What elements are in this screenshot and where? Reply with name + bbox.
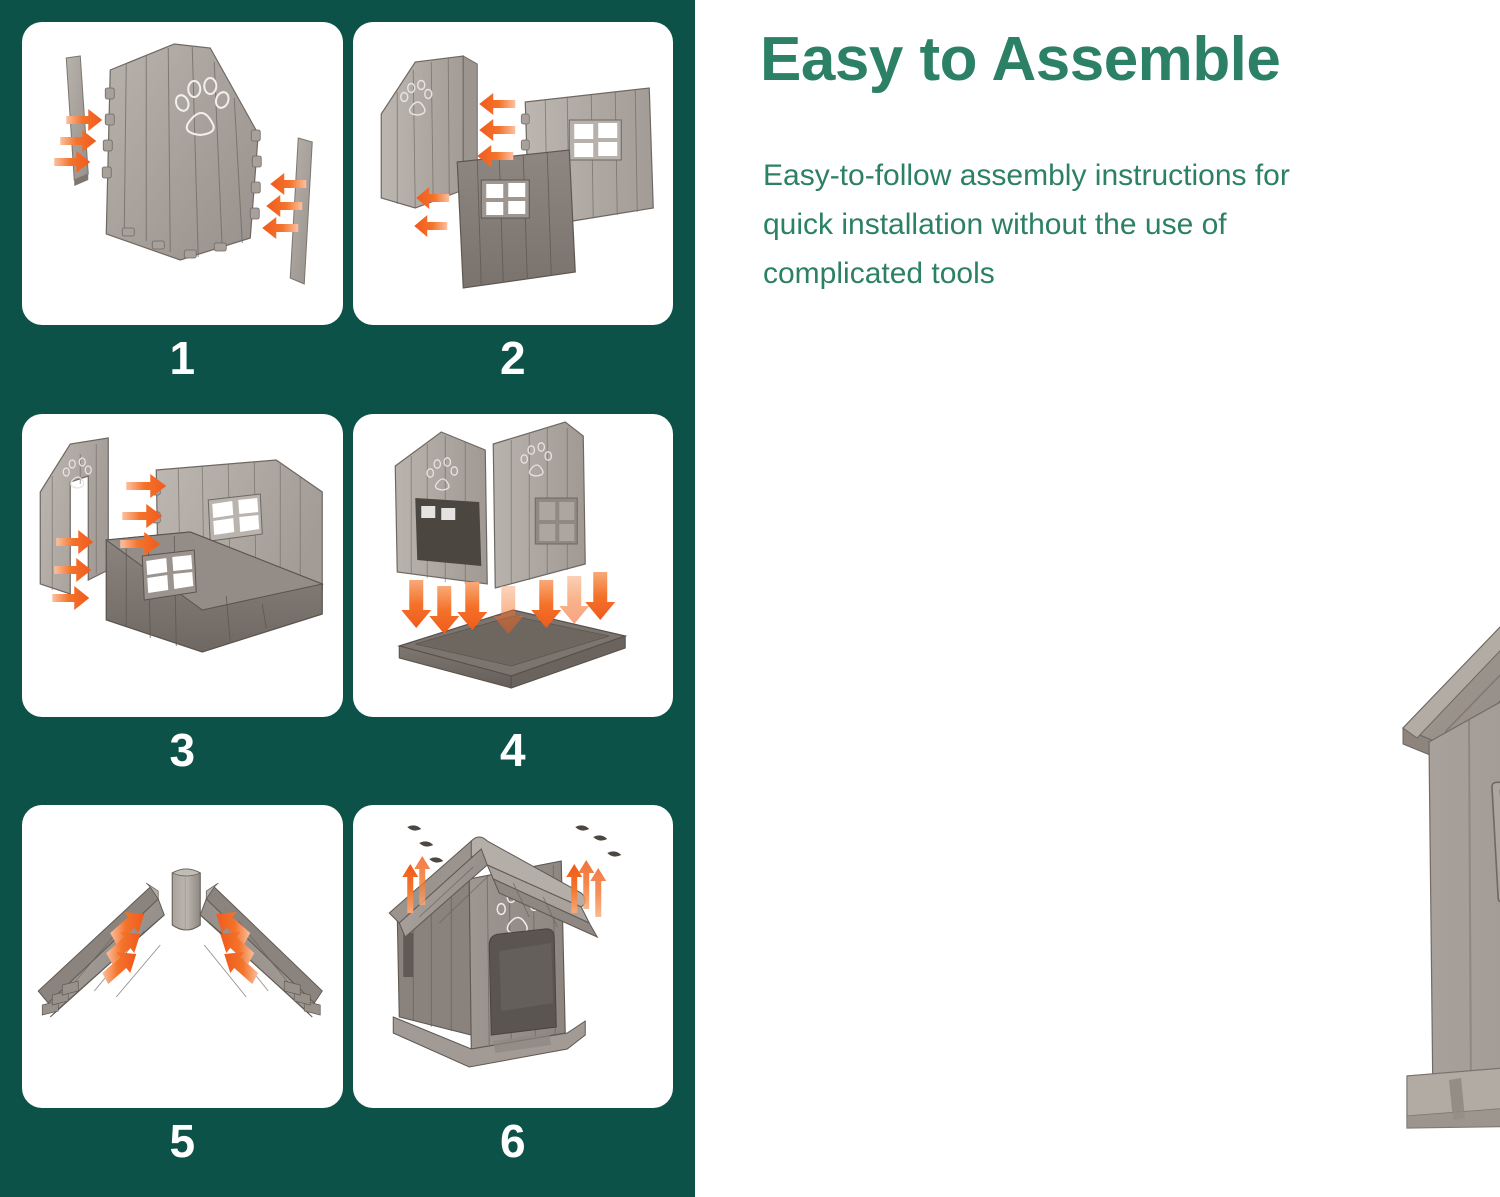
step-image-card-6 xyxy=(353,805,674,1108)
step-number-3: 3 xyxy=(22,717,343,805)
infographic-page: 1 xyxy=(0,0,1500,1197)
subtitle-line-2: quick installation without the use of xyxy=(763,201,1463,250)
window-frame xyxy=(569,120,621,160)
step-number-6: 6 xyxy=(353,1108,674,1196)
step-3-illustration xyxy=(22,414,343,717)
back-panel xyxy=(102,44,261,260)
step-number-4: 4 xyxy=(353,717,674,805)
step-image-card-4 xyxy=(353,414,674,717)
ridge-cap xyxy=(172,869,200,930)
product-hero-image xyxy=(1395,480,1500,1180)
step-image-card-3 xyxy=(22,414,343,717)
step-number-2: 2 xyxy=(353,325,674,413)
step-image-card-1 xyxy=(22,22,343,325)
assembly-steps-panel: 1 xyxy=(0,0,695,1197)
steps-grid: 1 xyxy=(22,22,673,1197)
step-cell-2: 2 xyxy=(353,22,674,413)
step-5-illustration xyxy=(22,805,343,1108)
left-side-wall xyxy=(1429,538,1500,1106)
front-wall-with-door xyxy=(395,432,487,584)
page-subtitle: Easy-to-follow assembly instructions for… xyxy=(763,152,1463,299)
step-cell-4: 4 xyxy=(353,414,674,805)
window-frame xyxy=(142,550,196,600)
step-image-card-2 xyxy=(353,22,674,325)
window-frame xyxy=(481,180,529,218)
step-number-5: 5 xyxy=(22,1108,343,1196)
step-cell-6: 6 xyxy=(353,805,674,1196)
window-frame xyxy=(208,494,262,541)
step-image-card-5 xyxy=(22,805,343,1108)
subtitle-line-1: Easy-to-follow assembly instructions for xyxy=(763,152,1463,201)
page-title: Easy to Assemble xyxy=(760,24,1280,95)
roof-half-right xyxy=(200,883,322,1017)
subtitle-line-3: complicated tools xyxy=(763,250,1463,299)
product-description-column: Easy to Assemble Easy-to-follow assembly… xyxy=(695,0,1500,1197)
step-cell-1: 1 xyxy=(22,22,343,413)
roof-half-left xyxy=(38,883,164,1017)
dog-house-render xyxy=(1395,480,1500,1180)
step-number-1: 1 xyxy=(22,325,343,413)
step-cell-5: 5 xyxy=(22,805,343,1196)
step-1-illustration xyxy=(22,22,343,325)
step-4-illustration xyxy=(353,414,674,717)
step-cell-3: 3 xyxy=(22,414,343,805)
side-wall-with-window xyxy=(493,422,585,588)
front-panel-dark xyxy=(457,150,575,288)
window-frame xyxy=(535,498,577,544)
step-6-illustration xyxy=(353,805,674,1108)
right-rail xyxy=(290,138,312,284)
step-2-illustration xyxy=(353,22,674,325)
assembly-arrow-group-left xyxy=(54,109,102,173)
